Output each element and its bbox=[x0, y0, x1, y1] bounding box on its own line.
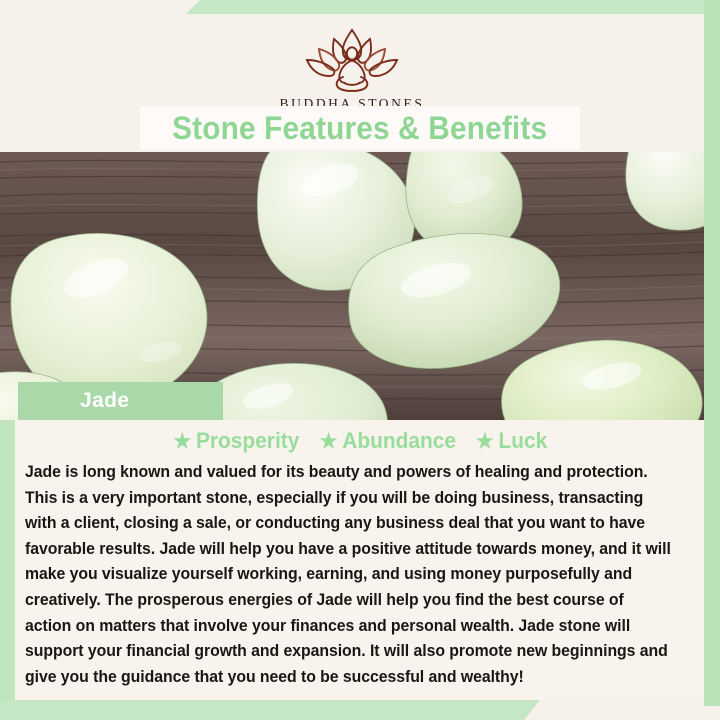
title-banner: Stone Features & Benefits bbox=[140, 106, 580, 150]
decor-bottom-green-band bbox=[0, 700, 720, 720]
benefit-item: ★ Abundance bbox=[320, 428, 456, 454]
benefit-item: ★ Luck bbox=[476, 428, 547, 454]
lotus-meditation-icon bbox=[291, 26, 413, 94]
page-title: Stone Features & Benefits bbox=[172, 110, 547, 147]
decor-right-green-strip bbox=[704, 0, 720, 706]
infographic-page: BUDDHA STONES Stone Features & Benefits bbox=[0, 0, 720, 720]
star-icon: ★ bbox=[173, 431, 191, 452]
stone-name-banner: Jade bbox=[18, 382, 223, 420]
benefit-label: Abundance bbox=[343, 428, 457, 454]
stone-name: Jade bbox=[80, 389, 129, 413]
stone-photo bbox=[0, 152, 704, 420]
star-icon: ★ bbox=[476, 431, 494, 452]
decor-left-green-strip bbox=[0, 380, 15, 700]
benefit-label: Luck bbox=[499, 428, 548, 454]
star-icon: ★ bbox=[320, 431, 338, 452]
brand-logo: BUDDHA STONES bbox=[0, 26, 704, 112]
description-card: ★ Prosperity ★ Abundance ★ Luck Jade is … bbox=[15, 420, 704, 700]
benefit-label: Prosperity bbox=[196, 428, 299, 454]
benefit-item: ★ Prosperity bbox=[173, 428, 299, 454]
benefits-row: ★ Prosperity ★ Abundance ★ Luck bbox=[15, 424, 704, 458]
stone-description: Jade is long known and valued for its be… bbox=[25, 460, 673, 690]
